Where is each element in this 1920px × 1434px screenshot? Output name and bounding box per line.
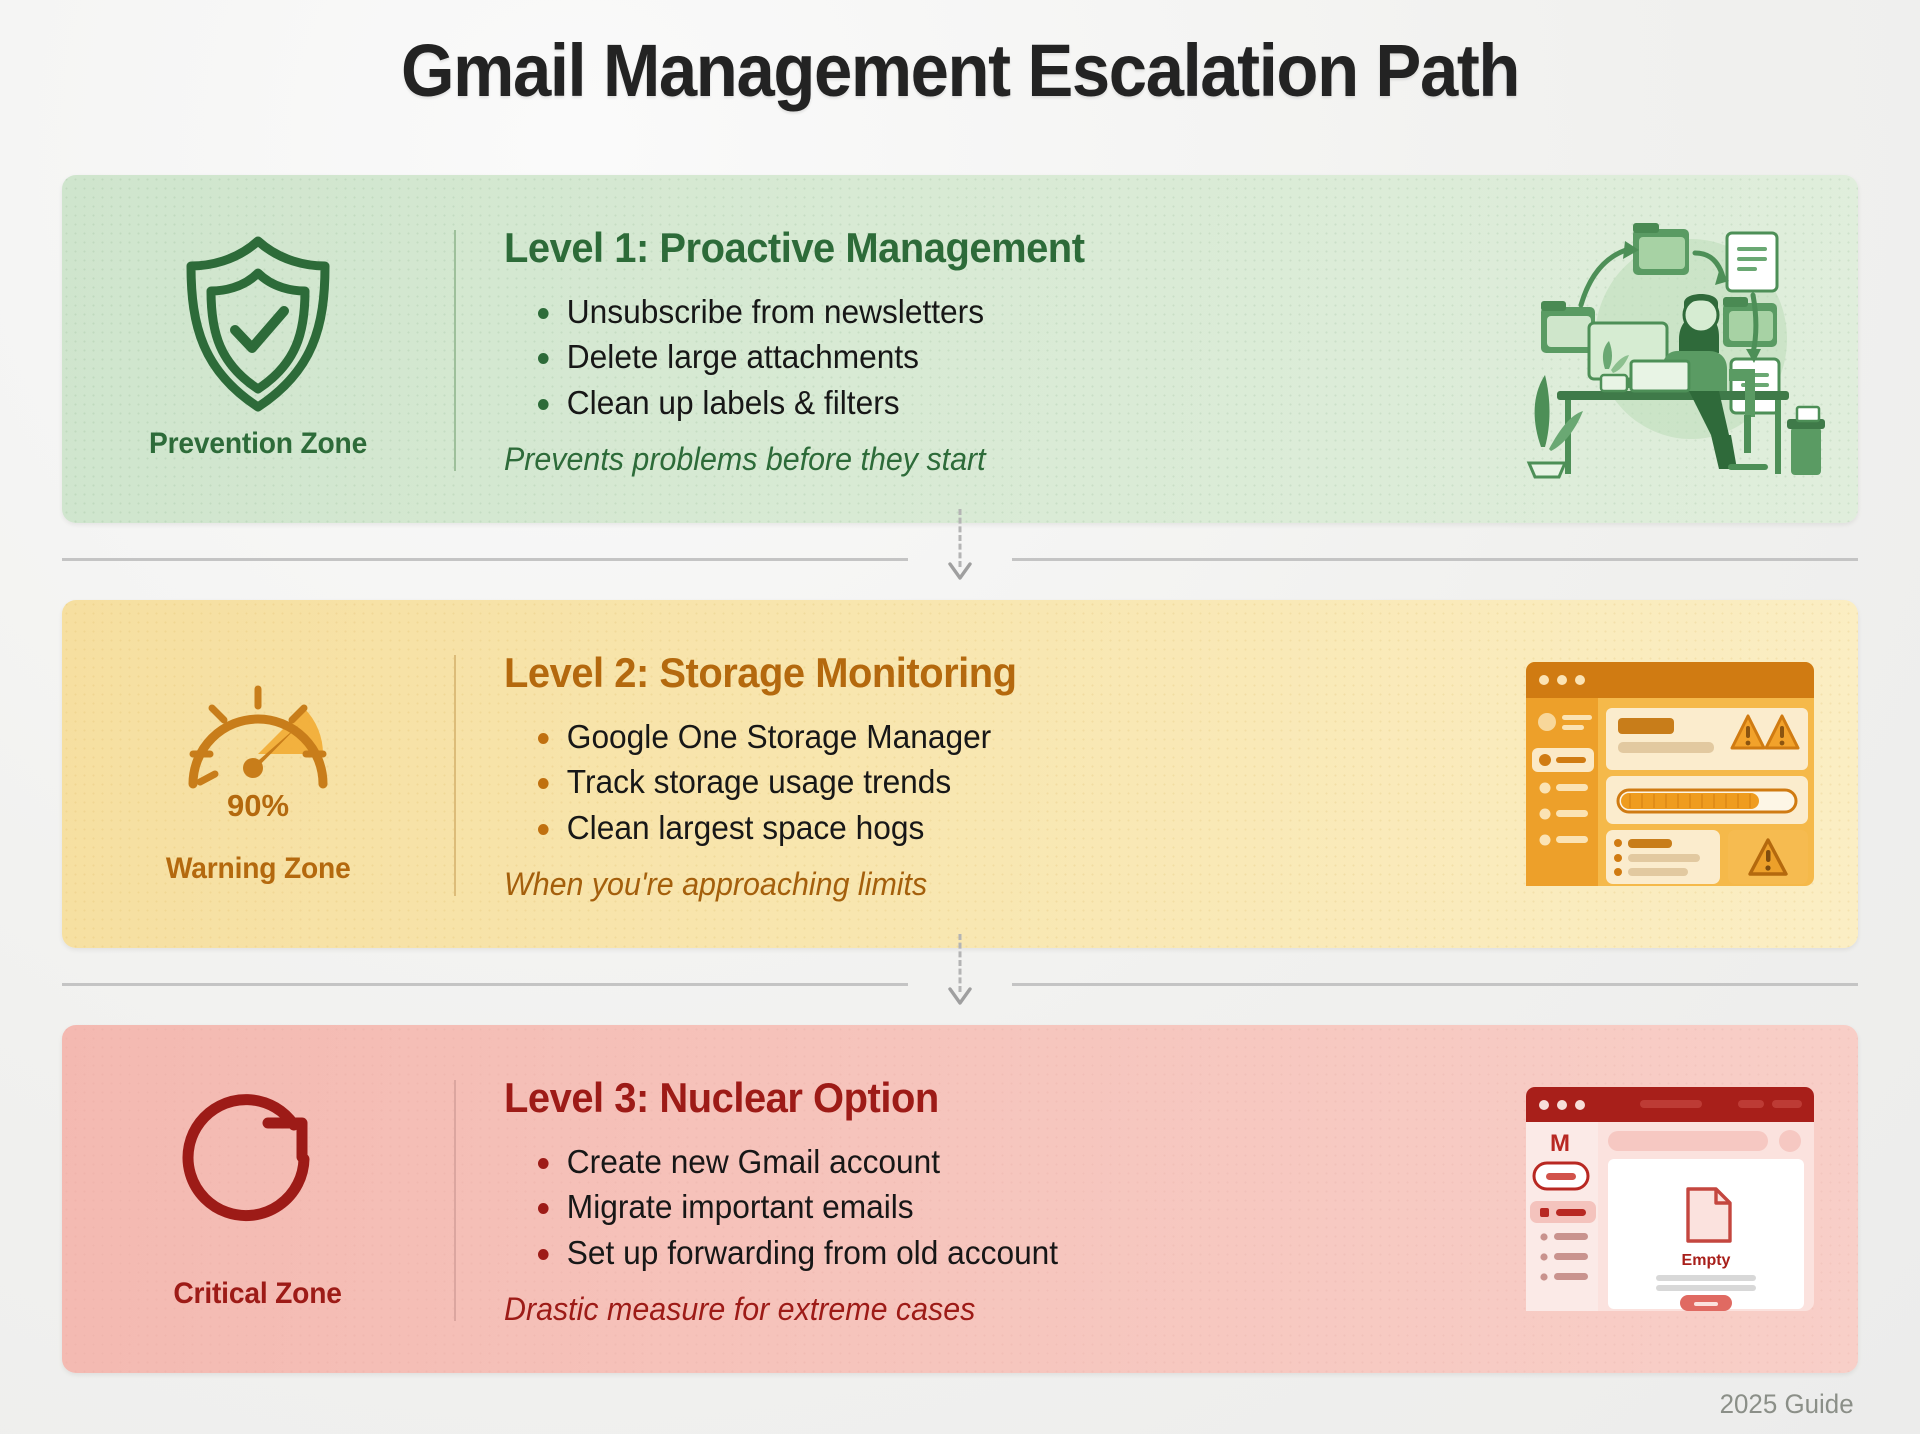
empty-state-label: Empty <box>1682 1252 1731 1269</box>
level-2-body: Level 2: Storage Monitoring Google One S… <box>456 600 1498 948</box>
connector-line-right <box>1012 983 1858 986</box>
level-1-illustration <box>1498 175 1858 523</box>
list-item: Track storage usage trends <box>538 759 1460 804</box>
level-3-caption: Drastic measure for extreme cases <box>504 1291 1448 1328</box>
page-title: Gmail Management Escalation Path <box>67 28 1853 113</box>
list-item: Google One Storage Manager <box>538 714 1460 759</box>
connector-level-2-to-3 <box>62 948 1858 1018</box>
level-1-zone: Prevention Zone <box>62 175 454 523</box>
level-3-title: Level 3: Nuclear Option <box>504 1074 1448 1122</box>
footer-note: 2025 Guide <box>1720 1389 1854 1420</box>
gmail-m-logo: M <box>1550 1130 1570 1157</box>
level-1-bullet-list: Unsubscribe from newsletters Delete larg… <box>538 289 1498 425</box>
connector-level-1-to-2 <box>62 523 1858 593</box>
connector-line-left <box>62 983 908 986</box>
level-3-illustration: M Empty <box>1498 1025 1858 1373</box>
chevron-down-icon <box>947 986 973 1006</box>
connector-line-right <box>1012 558 1858 561</box>
gauge-value-label: 90% <box>227 788 289 823</box>
level-1-zone-label: Prevention Zone <box>149 427 367 461</box>
level-2-zone: 90% Warning Zone <box>62 600 454 948</box>
chevron-down-icon <box>947 561 973 581</box>
level-3-panel: Critical Zone Level 3: Nuclear Option Cr… <box>62 1025 1858 1373</box>
list-item: Unsubscribe from newsletters <box>538 289 1460 334</box>
level-2-panel: 90% Warning Zone Level 2: Storage Monito… <box>62 600 1858 948</box>
list-item: Set up forwarding from old account <box>538 1230 1460 1275</box>
level-1-body: Level 1: Proactive Management Unsubscrib… <box>456 175 1498 523</box>
level-1-caption: Prevents problems before they start <box>504 441 1448 478</box>
level-2-zone-label: Warning Zone <box>166 852 351 886</box>
level-3-zone: Critical Zone <box>62 1025 454 1373</box>
list-item: Create new Gmail account <box>538 1139 1460 1184</box>
shield-check-icon <box>173 231 343 417</box>
level-2-illustration <box>1498 600 1858 948</box>
level-3-bullet-list: Create new Gmail account Migrate importa… <box>538 1139 1498 1275</box>
list-item: Migrate important emails <box>538 1184 1460 1229</box>
list-item: Clean up labels & filters <box>538 380 1460 425</box>
connector-line-left <box>62 558 908 561</box>
level-2-caption: When you're approaching limits <box>504 866 1448 903</box>
level-2-title: Level 2: Storage Monitoring <box>504 649 1448 697</box>
level-3-zone-label: Critical Zone <box>174 1277 342 1311</box>
level-2-bullet-list: Google One Storage Manager Track storage… <box>538 714 1498 850</box>
list-item: Delete large attachments <box>538 334 1460 379</box>
gauge-icon: 90% <box>173 656 343 842</box>
level-3-body: Level 3: Nuclear Option Create new Gmail… <box>456 1025 1498 1373</box>
level-1-panel: Prevention Zone Level 1: Proactive Manag… <box>62 175 1858 523</box>
list-item: Clean largest space hogs <box>538 805 1460 850</box>
refresh-circular-arrow-icon <box>173 1081 343 1267</box>
level-1-title: Level 1: Proactive Management <box>504 224 1448 272</box>
infographic-page: Gmail Management Escalation Path Prevent… <box>0 0 1920 1434</box>
